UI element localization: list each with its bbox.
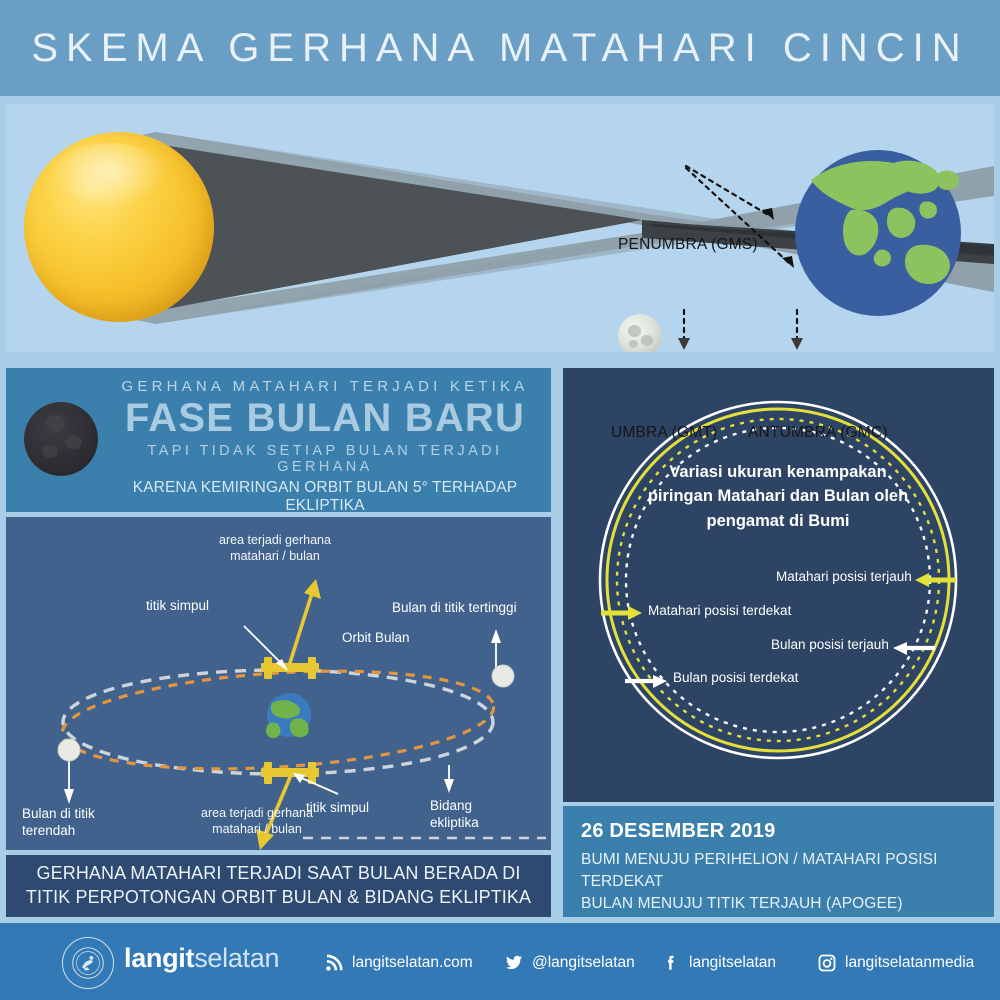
footer-twitter[interactable]: @langitselatan (505, 954, 635, 972)
label-moon-lowest: Bulan di titik terendah (22, 805, 132, 840)
label-node-top: titik simpul (146, 597, 209, 614)
earth-globe-icon (795, 150, 961, 316)
label-moon-orbit: Orbit Bulan (342, 629, 410, 646)
sun-object (24, 132, 214, 322)
label-penumbra: PENUMBRA (GMS) (618, 236, 758, 254)
caption-line1: GERHANA MATAHARI TERJADI SAAT BULAN BERA… (37, 862, 521, 886)
label-ecliptic-plane: Bidang ekliptika (430, 797, 520, 832)
new-moon-icon (24, 402, 98, 476)
new-moon-line1: GERHANA MATAHARI TERJADI KETIKA (106, 378, 544, 395)
label-antumbra: ANTUMBRA (GMC) (748, 424, 888, 442)
caption-line2: TITIK PERPOTONGAN ORBIT BULAN & BIDANG E… (26, 886, 531, 910)
brand-bold: langit (124, 943, 194, 973)
twitter-icon (505, 954, 523, 972)
page-title: SKEMA GERHANA MATAHARI CINCIN (31, 26, 968, 71)
moon-object (618, 314, 662, 352)
orbit-diagram-panel: area terjadi gerhana matahari / bulan ti… (6, 517, 551, 850)
facebook-text: langitselatan (689, 954, 776, 972)
website-text: langitselatan.com (352, 954, 473, 972)
new-moon-line4: KARENA KEMIRINGAN ORBIT BULAN 5° TERHADA… (106, 479, 544, 515)
title-bar: SKEMA GERHANA MATAHARI CINCIN (0, 0, 1000, 96)
label-eclipse-area-top: area terjadi gerhana matahari / bulan (190, 532, 360, 564)
footer-instagram[interactable]: langitselatanmedia (818, 954, 974, 972)
event-details: BUMI MENUJU PERIHELION / MATAHARI POSISI… (581, 849, 994, 915)
footer-facebook[interactable]: langitselatan (662, 954, 776, 972)
new-moon-text-block: GERHANA MATAHARI TERJADI KETIKA FASE BUL… (106, 378, 544, 515)
instagram-text: langitselatanmedia (845, 954, 974, 972)
date-info-panel: 26 DESEMBER 2019 BUMI MENUJU PERIHELION … (563, 806, 994, 917)
brand-wordmark: langitselatan (124, 943, 279, 974)
bottom-caption: GERHANA MATAHARI TERJADI SAAT BULAN BERA… (6, 855, 551, 917)
label-moon-farthest: Bulan posisi terjauh (771, 637, 889, 652)
brand-light: selatan (194, 943, 279, 973)
new-moon-line3: TAPI TIDAK SETIAP BULAN TERJADI GERHANA (106, 443, 544, 475)
label-umbra: UMBRA (GMT) (611, 424, 717, 442)
label-sun-nearest: Matahari posisi terdekat (648, 603, 791, 618)
rss-icon (325, 954, 343, 972)
footer-website[interactable]: langitselatan.com (325, 954, 473, 972)
logo-emblem-icon (71, 946, 105, 980)
earth-object (795, 150, 961, 316)
label-node-bottom: titik simpul (306, 799, 369, 816)
twitter-text: @langitselatan (532, 954, 635, 972)
eclipse-diagram-panel: PENUMBRA (GMS) (6, 104, 994, 352)
new-moon-banner: GERHANA MATAHARI TERJADI KETIKA FASE BUL… (6, 368, 551, 512)
ring-panel-title: Variasi ukuran kenampakan piringan Matah… (623, 460, 933, 533)
new-moon-headline: FASE BULAN BARU (106, 397, 544, 439)
label-moon-highest: Bulan di titik tertinggi (392, 599, 517, 616)
instagram-icon (818, 954, 836, 972)
infographic-page: SKEMA GERHANA MATAHARI CINCIN (0, 0, 1000, 1000)
footer-bar: langitselatan langitselatan.com @langits… (0, 923, 1000, 1000)
label-sun-farthest: Matahari posisi terjauh (776, 569, 912, 584)
label-moon-nearest: Bulan posisi terdekat (673, 670, 798, 685)
langitselatan-logo (62, 937, 114, 989)
event-date: 26 DESEMBER 2019 (581, 820, 994, 843)
facebook-icon (662, 954, 680, 972)
